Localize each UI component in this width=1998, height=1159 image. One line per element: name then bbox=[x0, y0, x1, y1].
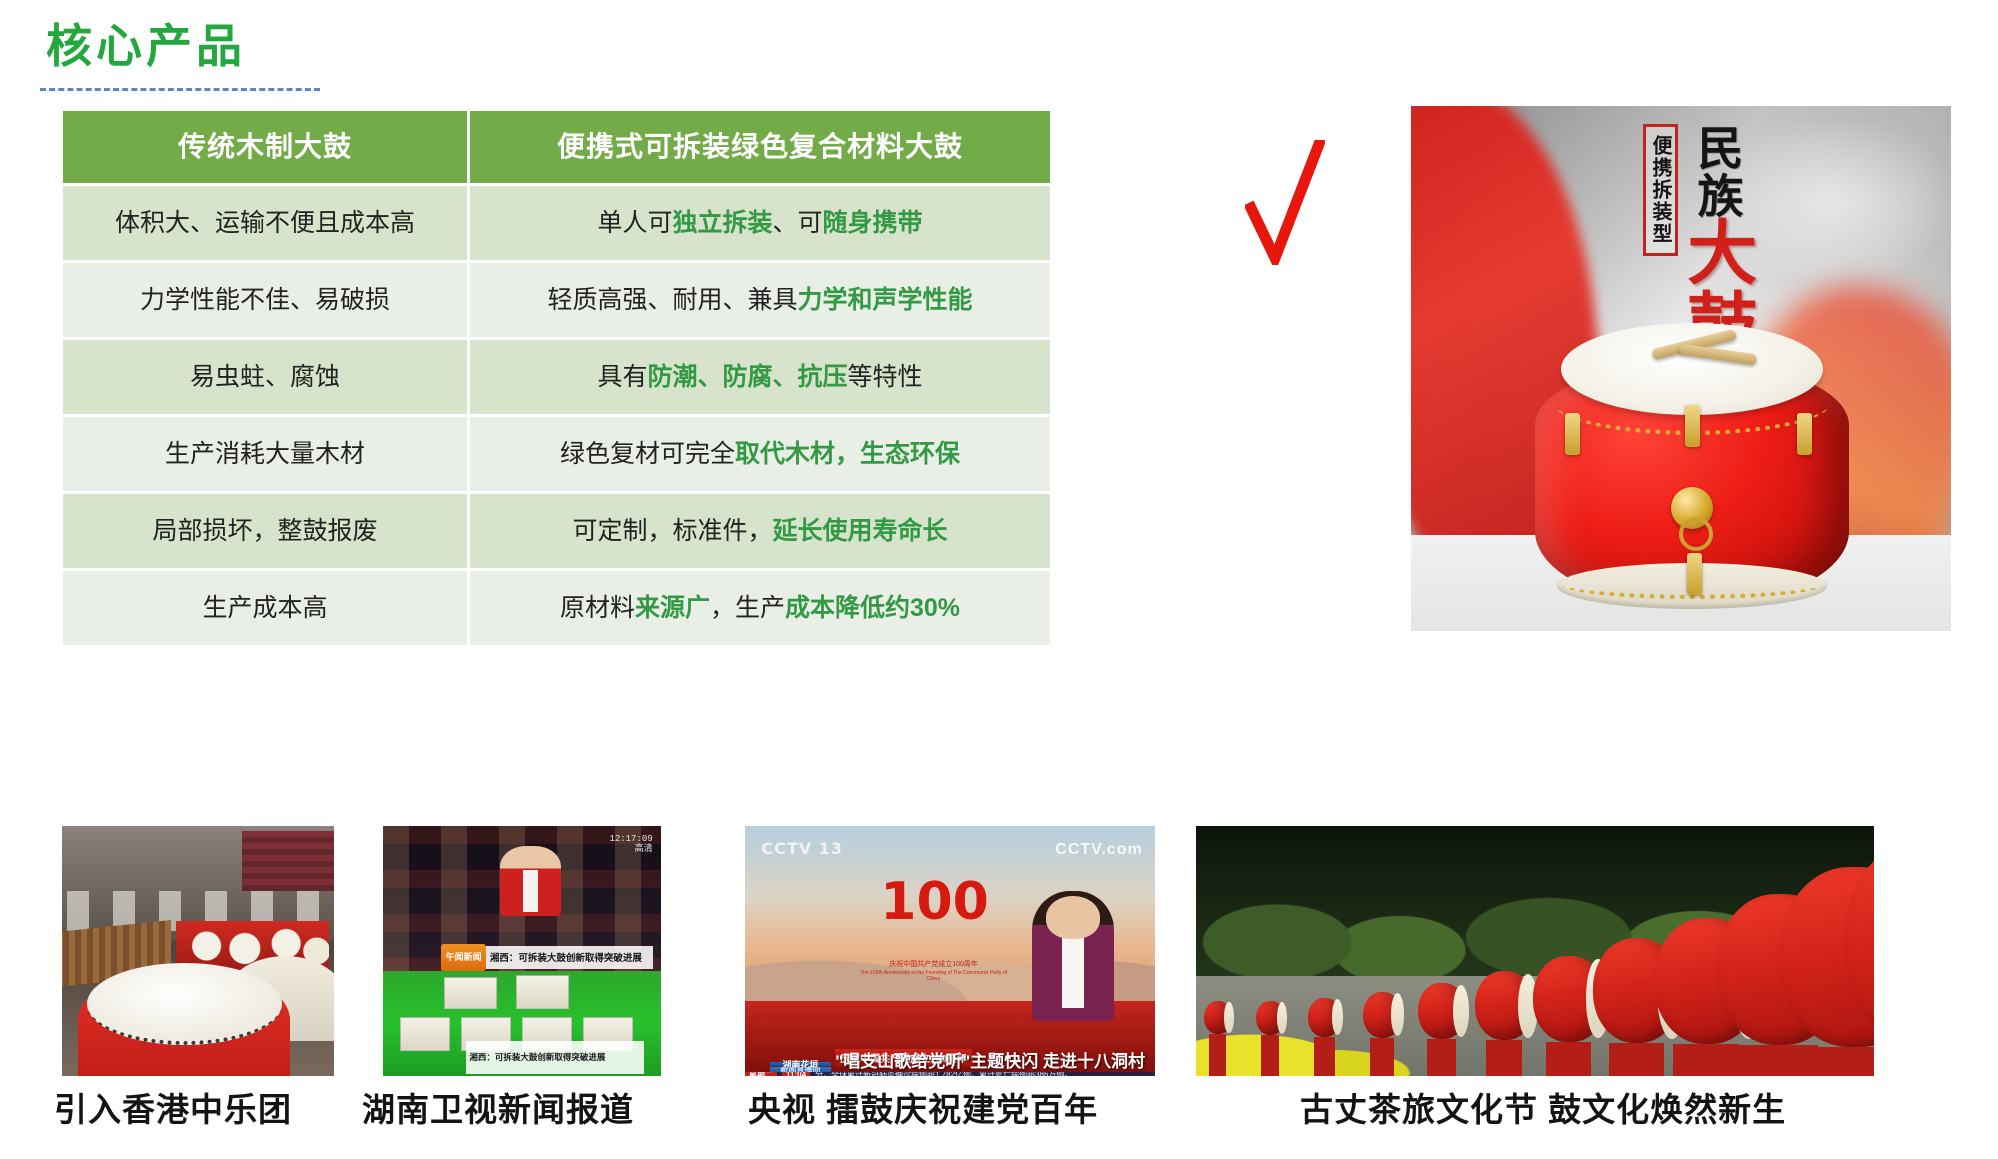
cell-text-plain: 、可 bbox=[773, 209, 823, 237]
drum-handle-ring bbox=[1671, 487, 1713, 529]
festival-drum-stand bbox=[1370, 1038, 1394, 1076]
t3-news-ticker: 星期二 11:04 分，全球累计新冠肺炎确诊病例超1.782亿例，累计死亡病例超… bbox=[745, 1072, 1155, 1076]
festival-drum-stand bbox=[1673, 1044, 1740, 1076]
t1-big-drum bbox=[78, 971, 290, 1076]
drum-illustration bbox=[1527, 317, 1857, 617]
t2-certificate-1 bbox=[444, 977, 497, 1009]
cell-text-highlight: 独立拆装 bbox=[672, 209, 772, 237]
t3-ticker-day: 星期二 bbox=[745, 1072, 777, 1076]
cell-traditional: 易虫蛀、腐蚀 bbox=[63, 340, 467, 414]
festival-drum-stand bbox=[1209, 1034, 1226, 1076]
red-check-mark-icon bbox=[1245, 140, 1325, 265]
cell-text-highlight: 防潮、防腐、抗压 bbox=[647, 363, 847, 391]
cell-text-highlight: 延长使用寿命长 bbox=[773, 517, 948, 545]
table-row: 局部损坏，整鼓报废可定制，标准件，延长使用寿命长 bbox=[63, 494, 1050, 568]
t3-anniversary-caption: 庆祝中国共产党成立100周年 The 100th Anniversary of … bbox=[860, 961, 1008, 982]
hero-title-top: 民族 bbox=[1694, 124, 1739, 220]
cell-text-plain: 可定制，标准件， bbox=[572, 517, 772, 545]
t2-time-text: 12:17:09 bbox=[609, 834, 652, 844]
t3-anniversary-caption-en: The 100th Anniversary of the Founding of… bbox=[860, 970, 1008, 983]
photo-gallery: 12:17:09 高清 午闻新闻 湘西：可拆装大鼓创新取得突破进展 湘西：可拆装… bbox=[0, 818, 1998, 1088]
festival-drum-stand bbox=[1609, 1043, 1664, 1076]
festival-drum bbox=[1418, 983, 1466, 1039]
table-header-row: 传统木制大鼓 便携式可拆装绿色复合材料大鼓 bbox=[63, 111, 1050, 183]
title-divider bbox=[40, 88, 320, 91]
t2-program-badge: 午闻新闻 bbox=[441, 944, 485, 972]
t2-quality-text: 高清 bbox=[635, 844, 653, 854]
caption-hunan-tv: 湖南卫视新闻报道 bbox=[362, 1083, 634, 1131]
t3-location: 湖南花垣 bbox=[770, 1062, 832, 1067]
gallery-thumb-hk-orchestra[interactable] bbox=[62, 826, 334, 1076]
cell-text-highlight: 成本降低约30% bbox=[785, 594, 960, 622]
cell-text-highlight: 力学和声学性能 bbox=[798, 286, 973, 314]
t3-anniversary-caption-cn: 庆祝中国共产党成立100周年 bbox=[860, 961, 1008, 970]
t3-watermark: CCTV.com bbox=[1055, 841, 1142, 859]
cell-text-highlight: 取代木材，生态环保 bbox=[735, 440, 960, 468]
table-row: 力学性能不佳、易破损轻质高强、耐用、兼具力学和声学性能 bbox=[63, 263, 1050, 337]
product-comparison-table: 传统木制大鼓 便携式可拆装绿色复合材料大鼓 体积大、运输不便且成本高单人可独立拆… bbox=[60, 108, 1053, 648]
festival-drum bbox=[1308, 998, 1341, 1037]
festival-drum-stand bbox=[1261, 1035, 1279, 1076]
t3-anniversary-logo: 100 bbox=[880, 876, 987, 961]
cell-composite: 可定制，标准件，延长使用寿命长 bbox=[470, 494, 1050, 568]
cell-traditional: 局部损坏，整鼓报废 bbox=[63, 494, 467, 568]
cell-text-plain: 单人可 bbox=[597, 209, 672, 237]
t3-anchor-face bbox=[1046, 896, 1099, 939]
cell-text-highlight: 随身携带 bbox=[823, 209, 923, 237]
column-header-composite: 便携式可拆装绿色复合材料大鼓 bbox=[470, 111, 1050, 183]
festival-drum-stand bbox=[1546, 1042, 1591, 1076]
festival-drum-stand bbox=[1807, 1047, 1874, 1076]
festival-drum-stand bbox=[1427, 1039, 1457, 1076]
drum-clasp-right bbox=[1797, 413, 1812, 455]
page-title: 核心产品 bbox=[46, 20, 246, 73]
t3-lower-third: 湖南花垣 新闻直播间 庆祝中国共产党成立100周年 "唱支山歌给党听"主题快闪 … bbox=[745, 1016, 1155, 1076]
t3-ticker-time: 11:04 bbox=[782, 1072, 810, 1076]
cell-traditional: 生产消耗大量木材 bbox=[63, 417, 467, 491]
cell-composite: 原材料来源广，生产成本降低约30% bbox=[470, 571, 1050, 645]
cell-composite: 轻质高强、耐用、兼具力学和声学性能 bbox=[470, 263, 1050, 337]
caption-hk-orchestra: 引入香港中乐团 bbox=[54, 1083, 292, 1131]
cell-composite: 具有防潮、防腐、抗压等特性 bbox=[470, 340, 1050, 414]
t2-certificate-2 bbox=[516, 975, 569, 1009]
t2-headline-secondary: 湘西：可拆装大鼓创新取得突破进展 bbox=[466, 1041, 644, 1074]
hero-badge-label: 便携拆装型 bbox=[1643, 124, 1678, 256]
table-row: 易虫蛀、腐蚀具有防潮、防腐、抗压等特性 bbox=[63, 340, 1050, 414]
t3-headline: "唱支山歌给党听"主题快闪 走进十八洞村 bbox=[835, 1047, 1145, 1072]
hero-product-image: 便携拆装型 民族 大鼓 bbox=[1411, 106, 1951, 631]
cell-composite: 绿色复材可完全取代木材，生态环保 bbox=[470, 417, 1050, 491]
festival-drum bbox=[1363, 992, 1402, 1038]
cell-text-plain: 绿色复材可完全 bbox=[560, 440, 735, 468]
cell-text-plain: 原材料 bbox=[560, 594, 635, 622]
festival-drum bbox=[1256, 1001, 1285, 1036]
caption-cctv: 央视 擂鼓庆祝建党百年 bbox=[748, 1083, 1098, 1131]
t1-seats bbox=[242, 831, 334, 891]
table-body: 体积大、运输不便且成本高单人可独立拆装、可随身携带力学性能不佳、易破损轻质高强、… bbox=[63, 186, 1050, 645]
gallery-captions: 引入香港中乐团 湖南卫视新闻报道 央视 擂鼓庆祝建党百年 古丈茶旅文化节 鼓文化… bbox=[0, 1083, 1998, 1145]
festival-drum-stand bbox=[1314, 1037, 1334, 1076]
caption-guzhang-festival: 古丈茶旅文化节 鼓文化焕然新生 bbox=[1300, 1083, 1786, 1131]
table-row: 体积大、运输不便且成本高单人可独立拆装、可随身携带 bbox=[63, 186, 1050, 260]
cell-traditional: 生产成本高 bbox=[63, 571, 467, 645]
drum-clasp-bottom bbox=[1687, 553, 1702, 595]
column-header-traditional: 传统木制大鼓 bbox=[63, 111, 467, 183]
gallery-thumb-guzhang-festival[interactable] bbox=[1196, 826, 1874, 1076]
gallery-thumb-hunan-tv[interactable]: 12:17:09 高清 午闻新闻 湘西：可拆装大鼓创新取得突破进展 湘西：可拆装… bbox=[383, 826, 661, 1076]
slide-root: 核心产品 传统木制大鼓 便携式可拆装绿色复合材料大鼓 体积大、运输不便且成本高单… bbox=[0, 0, 1998, 1159]
drum-clasp-left bbox=[1565, 413, 1580, 455]
festival-drum bbox=[1475, 971, 1534, 1041]
t2-certificate-3 bbox=[400, 1017, 450, 1051]
cell-text-plain: 轻质高强、耐用、兼具 bbox=[547, 286, 797, 314]
cell-text-plain: 等特性 bbox=[848, 363, 923, 391]
t3-channel-logo: CCTV 13 bbox=[761, 839, 843, 858]
page-title-block: 核心产品 bbox=[46, 20, 246, 73]
table-row: 生产成本高原材料来源广，生产成本降低约30% bbox=[63, 571, 1050, 645]
festival-drum-stand bbox=[1486, 1040, 1523, 1076]
cell-text-highlight: 来源广 bbox=[635, 594, 710, 622]
festival-drum bbox=[1204, 1001, 1232, 1034]
cell-traditional: 力学性能不佳、易破损 bbox=[63, 263, 467, 337]
gallery-thumb-cctv[interactable]: CCTV 13 CCTV.com 100 庆祝中国共产党成立100周年 The … bbox=[745, 826, 1155, 1076]
cell-text-plain: 具有 bbox=[597, 363, 647, 391]
cell-text-plain: ，生产 bbox=[710, 594, 785, 622]
t2-news-anchor bbox=[500, 846, 561, 916]
cell-composite: 单人可独立拆装、可随身携带 bbox=[470, 186, 1050, 260]
t2-headline: 湘西：可拆装大鼓创新取得突破进展 bbox=[486, 946, 653, 969]
t3-location-sub: 新闻直播间 bbox=[770, 1067, 832, 1072]
table-row: 生产消耗大量木材绿色复材可完全取代木材，生态环保 bbox=[63, 417, 1050, 491]
t2-timestamp: 12:17:09 高清 bbox=[609, 834, 652, 855]
drum-clasp-center bbox=[1685, 405, 1700, 447]
t3-channel-text: CCTV 13 bbox=[761, 839, 843, 858]
t3-ticker-text: 分，全球累计新冠肺炎确诊病例超1.782亿例，累计死亡病例超386万例。 bbox=[815, 1072, 1072, 1076]
cell-traditional: 体积大、运输不便且成本高 bbox=[63, 186, 467, 260]
